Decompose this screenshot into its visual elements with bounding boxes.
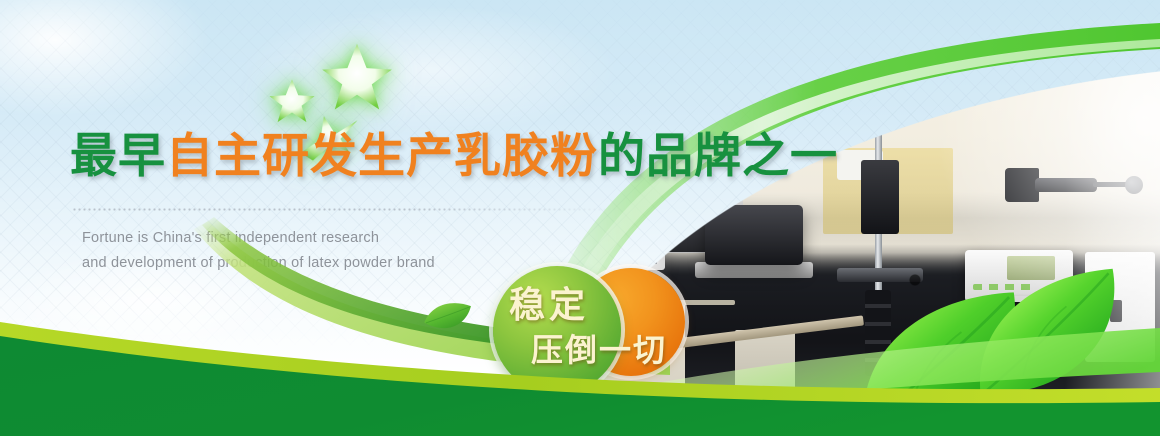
bottom-wave-decoration	[0, 236, 1160, 436]
headline-part-1: 最早	[70, 129, 166, 184]
headline-part-3: 的品牌之一	[598, 129, 838, 184]
dotted-divider	[72, 208, 620, 211]
promo-banner: 最早自主研发生产乳胶粉的品牌之一 Fortune is China's firs…	[0, 0, 1160, 436]
headline: 最早自主研发生产乳胶粉的品牌之一	[70, 133, 838, 180]
headline-part-2: 自主研发生产乳胶粉	[166, 129, 598, 184]
